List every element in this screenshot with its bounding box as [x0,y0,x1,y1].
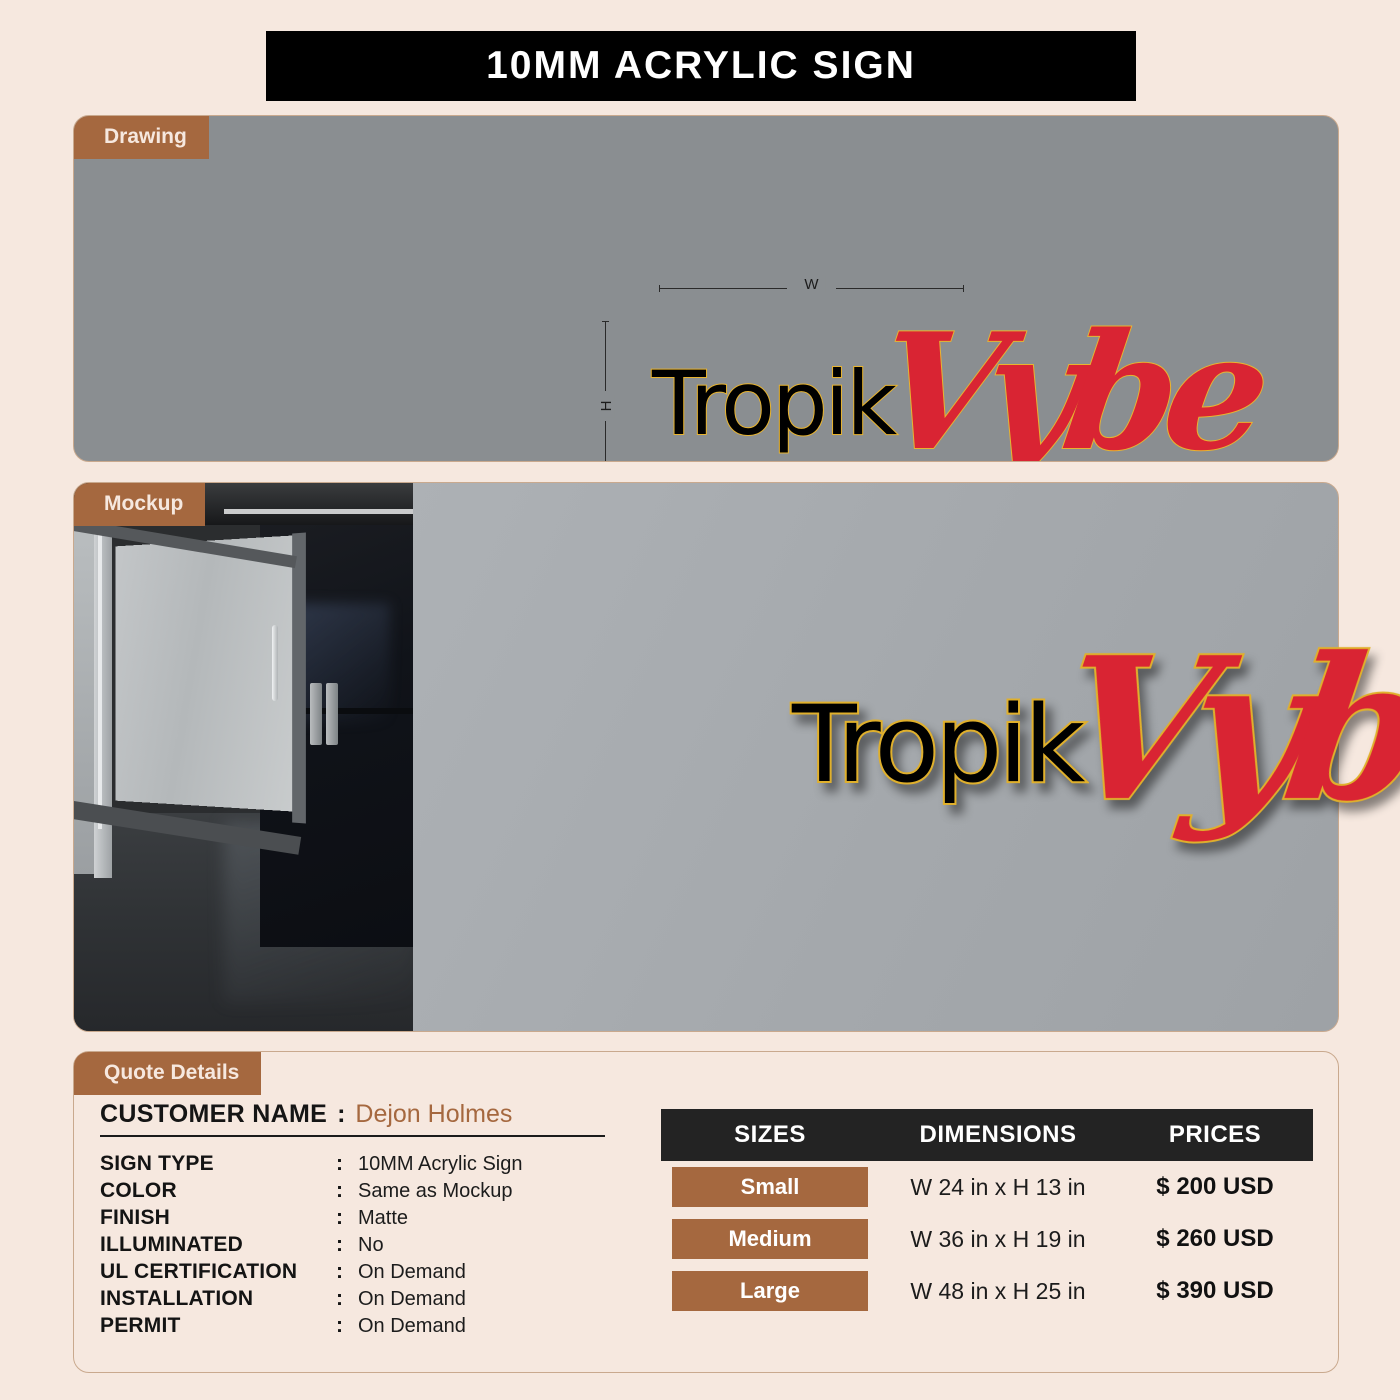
size-cell: Small [661,1167,879,1207]
spec-value: On Demand [358,1288,466,1311]
spec-colon: : [336,1287,358,1311]
width-cap-left [659,285,660,292]
table-row: Medium W 36 in x H 19 in $ 260 USD [661,1213,1313,1265]
logo-word-tropik: Tropik [652,360,894,448]
spec-row-installation: INSTALLATION : On Demand [100,1287,620,1314]
sizes-pricing-table: SIZES DIMENSIONS PRICES Small W 24 in x … [661,1109,1313,1317]
size-cell: Large [661,1271,879,1311]
spec-value: Same as Mockup [358,1180,513,1203]
dimensions-cell: W 36 in x H 19 in [879,1226,1117,1253]
width-segment-left [659,288,787,289]
height-dimension-line: H [605,321,606,462]
quote-details-section-tab: Quote Details [74,1052,261,1095]
spec-row-sign-type: SIGN TYPE : 10MM Acrylic Sign [100,1152,620,1179]
size-badge-large: Large [672,1271,868,1311]
table-row: Small W 24 in x H 13 in $ 200 USD [661,1161,1313,1213]
spec-label: COLOR [100,1179,336,1203]
drawing-section-tab: Drawing [74,116,209,159]
mockup-logo: Tropik Vybe [792,650,1400,828]
width-cap-right [963,285,964,292]
width-segment-right [836,288,964,289]
spec-colon: : [336,1233,358,1257]
spec-value: On Demand [358,1261,466,1284]
photo-interior-handle-right [326,683,338,745]
height-segment-bottom [605,421,606,462]
spec-value: On Demand [358,1315,466,1338]
customer-name-row: CUSTOMER NAME : Dejon Holmes [100,1100,605,1137]
spec-label: ILLUMINATED [100,1233,336,1257]
table-header-row: SIZES DIMENSIONS PRICES [661,1109,1313,1161]
customer-name-label: CUSTOMER NAME [100,1100,327,1129]
photo-side-glass [74,529,94,874]
spec-row-illuminated: ILLUMINATED : No [100,1233,620,1260]
spec-value: No [358,1234,384,1257]
price-cell: $ 390 USD [1117,1277,1313,1305]
spec-colon: : [336,1314,358,1338]
photo-door-edge [292,533,306,824]
spec-row-finish: FINISH : Matte [100,1206,620,1233]
mockup-logo-word-vybe: Vybe [1050,632,1400,828]
mockup-section-tab: Mockup [74,483,205,526]
page-title-bar: 10MM ACRYLIC SIGN [266,31,1136,101]
spec-label: PERMIT [100,1314,336,1338]
spec-colon: : [336,1179,358,1203]
table-header-sizes: SIZES [661,1121,879,1149]
price-cell: $ 260 USD [1117,1225,1313,1253]
quote-details-panel: Quote Details CUSTOMER NAME : Dejon Holm… [73,1051,1339,1373]
spec-label: FINISH [100,1206,336,1230]
spec-value: 10MM Acrylic Sign [358,1153,523,1176]
drawing-logo: Tropik Vybe [652,326,1256,462]
page-title: 10MM ACRYLIC SIGN [486,44,916,88]
table-header-prices: PRICES [1117,1121,1313,1149]
dimensions-cell: W 24 in x H 13 in [879,1174,1117,1201]
table-header-dimensions: DIMENSIONS [879,1121,1117,1149]
dimensions-cell: W 48 in x H 25 in [879,1278,1117,1305]
size-badge-small: Small [672,1167,868,1207]
photo-glass-door [115,535,298,812]
customer-name-value: Dejon Holmes [355,1100,512,1129]
size-cell: Medium [661,1219,879,1259]
spec-colon: : [336,1260,358,1284]
size-badge-medium: Medium [672,1219,868,1259]
width-dimension-line: W [659,288,964,289]
mockup-logo-word-tropik: Tropik [792,692,1081,798]
spec-value: Matte [358,1207,408,1230]
spec-colon: : [336,1206,358,1230]
spec-label: INSTALLATION [100,1287,336,1311]
customer-name-colon: : [337,1100,345,1129]
photo-mullion-highlight [98,529,102,829]
spec-row-permit: PERMIT : On Demand [100,1314,620,1341]
spec-row-ul-certification: UL CERTIFICATION : On Demand [100,1260,620,1287]
spec-label: UL CERTIFICATION [100,1260,336,1284]
photo-interior-handle-left [310,683,322,745]
width-label: W [797,276,825,293]
photo-door-handle [272,625,278,701]
spec-list: SIGN TYPE : 10MM Acrylic Sign COLOR : Sa… [100,1152,620,1341]
spec-label: SIGN TYPE [100,1152,336,1176]
spec-row-color: COLOR : Same as Mockup [100,1179,620,1206]
table-row: Large W 48 in x H 25 in $ 390 USD [661,1265,1313,1317]
storefront-photo [74,483,413,1031]
drawing-panel: Drawing W H Tropik Vybe [73,115,1339,462]
height-label: H [598,395,615,418]
logo-word-vybe: Vybe [869,312,1268,462]
price-cell: $ 200 USD [1117,1173,1313,1201]
height-segment-top [605,321,606,391]
photo-ceiling-light-strip [224,509,413,514]
spec-colon: : [336,1152,358,1176]
